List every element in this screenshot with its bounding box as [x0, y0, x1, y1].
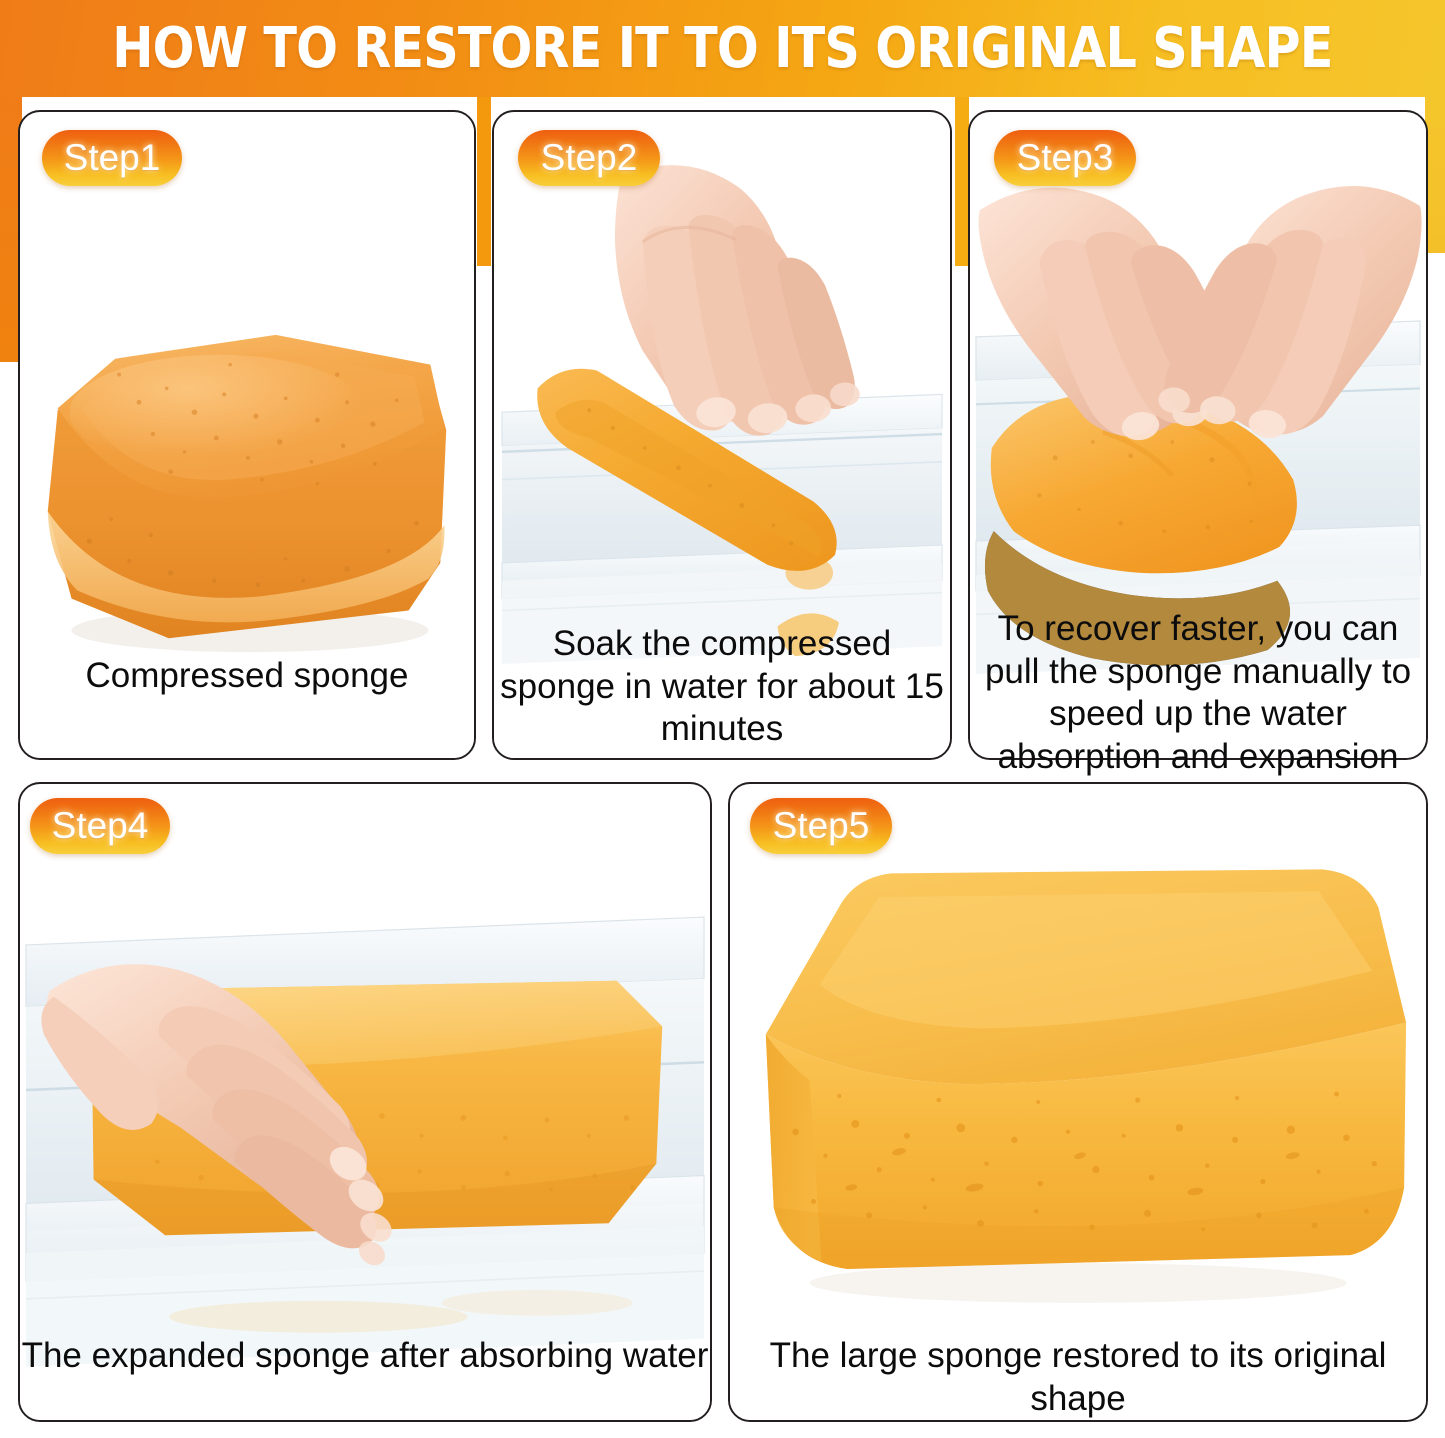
restored-sponge-photo	[730, 784, 1426, 1422]
step-badge-3: Step3	[994, 130, 1136, 186]
card-gutter-two	[955, 90, 969, 266]
card-gutter-one	[477, 90, 491, 266]
step-caption-4: The expanded sponge after absorbing wate…	[18, 1335, 712, 1378]
right-accent-strip	[1425, 90, 1445, 253]
step-badge-label-3: Step3	[1017, 137, 1114, 179]
step-badge-1: Step1	[42, 130, 182, 186]
step-caption-1: Compressed sponge	[18, 655, 476, 698]
step-badge-label-4: Step4	[52, 805, 149, 847]
step-badge-label-1: Step1	[64, 137, 161, 179]
step-badge-5: Step5	[750, 798, 892, 854]
expanded-sponge-photo	[20, 784, 710, 1422]
step-caption-2: Soak the compressed sponge in water for …	[496, 623, 948, 751]
infographic-page: HOW TO RESTORE IT TO ITS ORIGINAL SHAPE	[0, 0, 1445, 1438]
header-banner: HOW TO RESTORE IT TO ITS ORIGINAL SHAPE	[0, 0, 1445, 97]
step-badge-label-2: Step2	[541, 137, 638, 179]
step-card-5: Step5	[728, 782, 1428, 1422]
step-badge-label-5: Step5	[773, 805, 870, 847]
step-badge-4: Step4	[30, 798, 170, 854]
step-card-4: Step4	[18, 782, 712, 1422]
page-title: HOW TO RESTORE IT TO ITS ORIGINAL SHAPE	[112, 16, 1332, 81]
step-caption-3: To recover faster, you can pull the spon…	[972, 608, 1424, 779]
step-badge-2: Step2	[518, 130, 660, 186]
step-caption-5: The large sponge restored to its origina…	[728, 1335, 1428, 1420]
